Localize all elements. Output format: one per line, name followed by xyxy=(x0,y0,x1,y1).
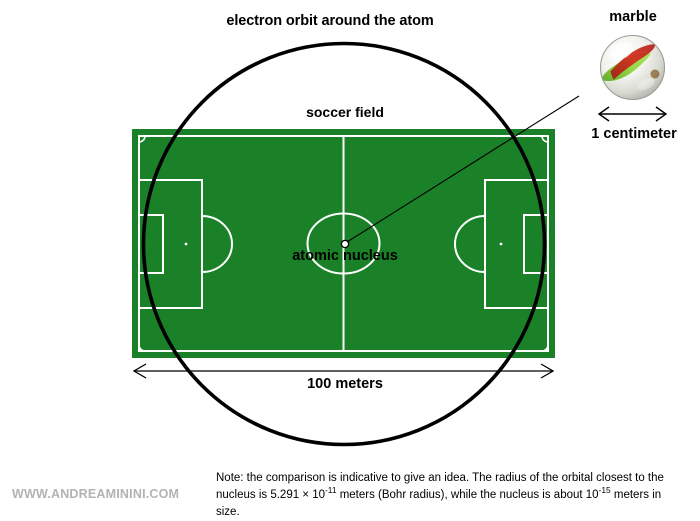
atomic-nucleus-label: atomic nucleus xyxy=(0,249,690,264)
marble-icon xyxy=(599,34,666,101)
nucleus-dot-icon xyxy=(341,240,348,247)
footnote: Note: the comparison is indicative to gi… xyxy=(216,470,686,521)
left-penalty-spot xyxy=(185,243,188,246)
footnote-exponent-2: -15 xyxy=(599,485,611,495)
soccer-field-label: soccer field xyxy=(0,105,690,119)
field-width-label: 100 meters xyxy=(0,377,690,392)
marble-label: marble xyxy=(578,10,688,25)
footnote-part-2: meters (Bohr radius), while the nucleus … xyxy=(337,489,599,501)
right-penalty-spot xyxy=(500,243,503,246)
diagram-canvas: electron orbit around the atom soccer fi… xyxy=(0,0,700,520)
watermark: WWW.ANDREAMININI.COM xyxy=(12,487,179,501)
footnote-exponent-1: -11 xyxy=(325,485,336,495)
page-title: electron orbit around the atom xyxy=(0,14,660,29)
marble-size-label: 1 centimeter xyxy=(573,127,695,142)
